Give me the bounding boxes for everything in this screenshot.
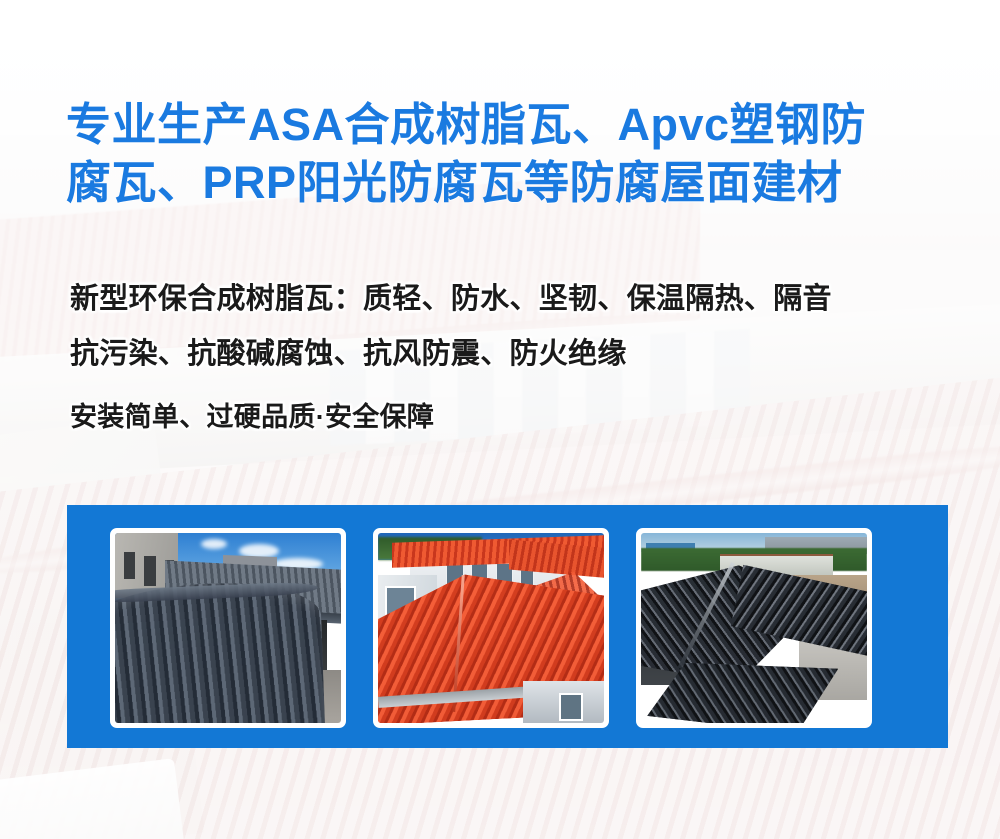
photo1-window	[124, 552, 135, 579]
black-tile-roof-photo-inner	[641, 533, 867, 723]
banner-subheadings: 新型环保合成树脂瓦：质轻、防水、坚韧、保温隔热、隔音 抗污染、抗酸碱腐蚀、抗风防…	[70, 272, 970, 445]
black-tile-roof-photo[interactable]	[636, 528, 872, 728]
product-banner: 专业生产ASA合成树脂瓦、Apvc塑钢防 腐瓦、PRP阳光防腐瓦等防腐屋面建材 …	[0, 0, 1000, 839]
banner-content: 专业生产ASA合成树脂瓦、Apvc塑钢防 腐瓦、PRP阳光防腐瓦等防腐屋面建材 …	[0, 0, 1000, 839]
headline-line-1: 专业生产ASA合成树脂瓦、Apvc塑钢防	[66, 99, 866, 150]
subheading-line-2: 抗污染、抗酸碱腐蚀、抗风防震、防火绝缘	[70, 327, 970, 382]
red-tile-roof-photo[interactable]	[373, 528, 609, 728]
red-tile-roof-photo-inner	[378, 533, 604, 723]
photo1-main-grey-roof	[115, 580, 326, 723]
photo2-window	[559, 693, 583, 722]
subheading-line-1: 新型环保合成树脂瓦：质轻、防水、坚韧、保温隔热、隔音	[70, 272, 970, 327]
photo-gallery-frame	[67, 505, 948, 748]
photo1-cloud	[201, 539, 227, 549]
grey-tile-roof-photo[interactable]	[110, 528, 346, 728]
headline-line-2: 腐瓦、PRP阳光防腐瓦等防腐屋面建材	[66, 154, 946, 212]
banner-headline: 专业生产ASA合成树脂瓦、Apvc塑钢防 腐瓦、PRP阳光防腐瓦等防腐屋面建材	[66, 96, 946, 212]
subheading-line-3: 安装简单、过硬品质·安全保障	[70, 390, 970, 445]
grey-tile-roof-photo-inner	[115, 533, 341, 723]
photo1-window	[144, 556, 155, 586]
photo-gallery-strip	[110, 528, 872, 728]
